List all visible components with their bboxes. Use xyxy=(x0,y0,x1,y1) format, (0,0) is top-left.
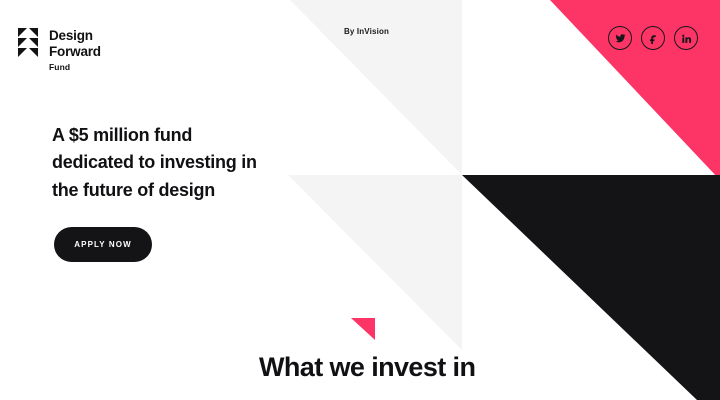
brand-name-line-2: Forward xyxy=(49,44,101,60)
facebook-icon xyxy=(648,33,659,44)
social-link-twitter[interactable] xyxy=(608,26,632,50)
brand-name-line-1: Design xyxy=(49,28,101,44)
linkedin-icon xyxy=(681,33,692,44)
hero-headline-line-2: dedicated to investing in xyxy=(52,149,302,176)
social-links xyxy=(608,26,698,50)
section-title: What we invest in xyxy=(259,353,475,383)
brand-name-line-3: Fund xyxy=(49,63,101,72)
brand-lockup[interactable]: Design Forward Fund xyxy=(18,28,101,71)
social-link-facebook[interactable] xyxy=(641,26,665,50)
landing-page: Design Forward Fund By InVision A $5 mil… xyxy=(0,0,720,400)
triangle-stack-logo-icon xyxy=(18,28,40,57)
hero-headline-line-1: A $5 million fund xyxy=(52,122,302,149)
byline-invision: By InVision xyxy=(344,27,389,36)
social-link-linkedin[interactable] xyxy=(674,26,698,50)
pink-triangle-marker-icon xyxy=(351,318,375,340)
twitter-icon xyxy=(615,33,626,44)
apply-now-button[interactable]: APPLY NOW xyxy=(54,227,152,262)
hero-headline: A $5 million fund dedicated to investing… xyxy=(52,122,302,204)
hero-headline-line-3: the future of design xyxy=(52,177,302,204)
